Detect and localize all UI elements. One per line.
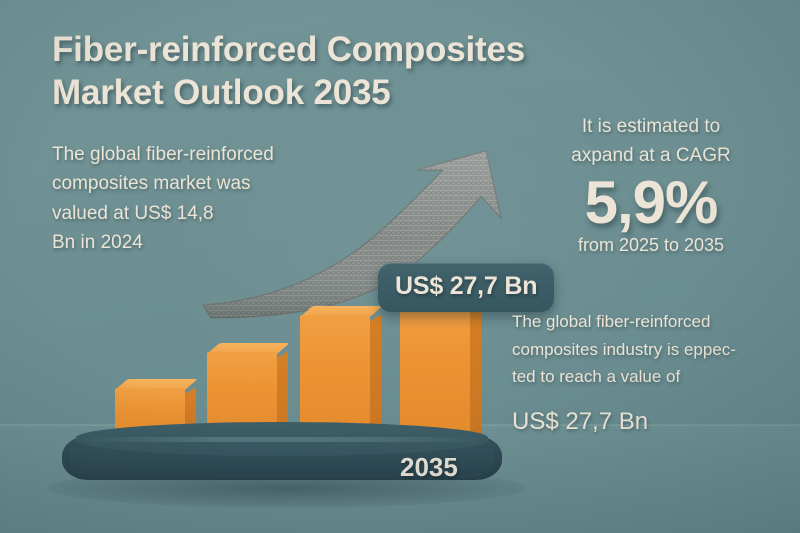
bar-4 xyxy=(400,300,470,442)
cagr-lead-text: It is estimated to axpand at a CAGR xyxy=(510,113,792,170)
platform-year-label: 2035 xyxy=(400,452,458,483)
bar-4-front-face xyxy=(400,300,470,442)
infographic-canvas: Fiber-reinforced Composites Market Outlo… xyxy=(0,0,800,533)
right-value: US$ 27,7 Bn xyxy=(512,408,648,436)
value-callout-badge: US$ 27,7 Bn xyxy=(378,263,554,312)
right-description: The global fiber-reinforced composites i… xyxy=(512,308,792,391)
cagr-value: 5,9% xyxy=(510,172,792,233)
cagr-block: It is estimated to axpand at a CAGR 5,9%… xyxy=(510,113,792,256)
platform-highlight xyxy=(82,437,482,442)
page-title: Fiber-reinforced Composites Market Outlo… xyxy=(52,28,672,115)
cagr-range: from 2025 to 2035 xyxy=(510,235,792,256)
